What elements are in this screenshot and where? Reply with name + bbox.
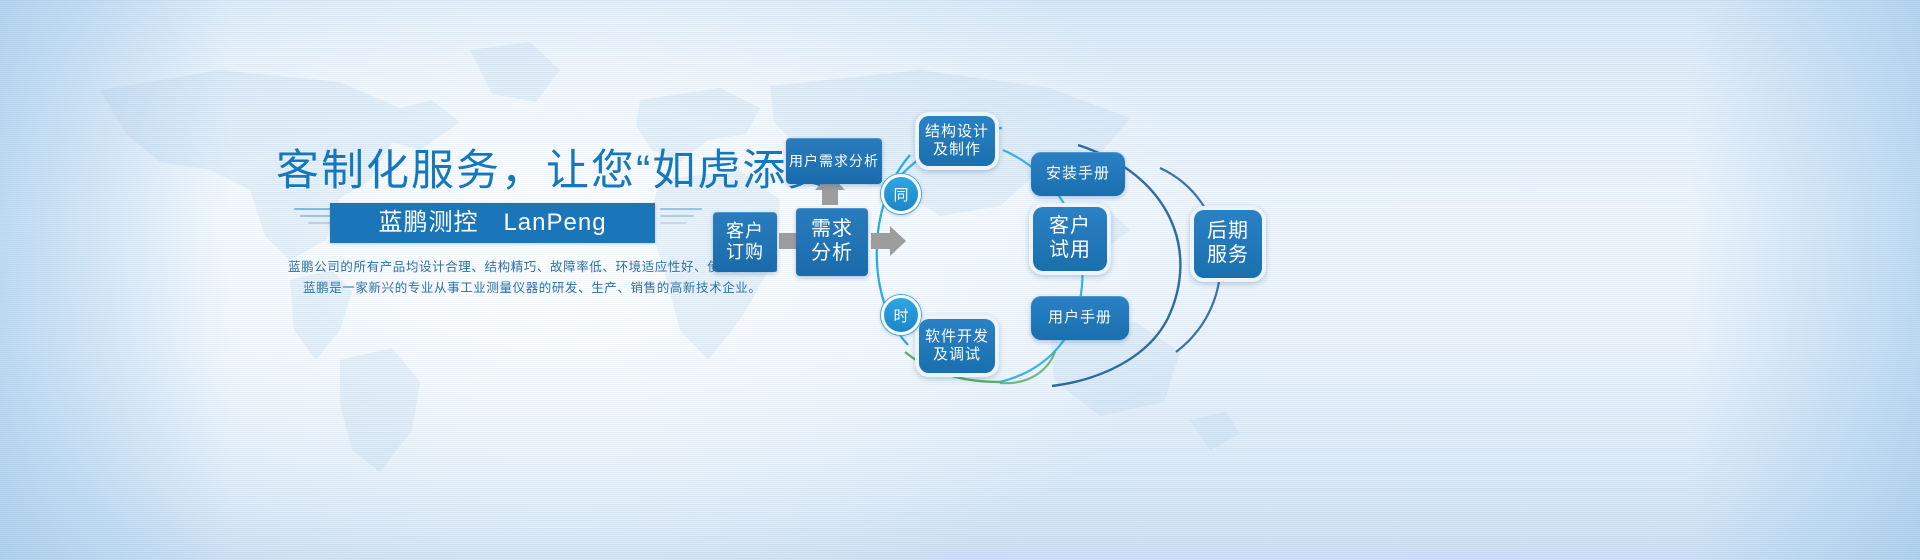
flow-node-label-line2: 服务 [1207, 244, 1249, 268]
flow-node-user-requirement-analysis[interactable]: 用户需求分析 [786, 138, 882, 184]
flow-node-installation-manual[interactable]: 安装手册 [1031, 152, 1125, 196]
process-flow-diagram: 用户需求分析 客户 订购 需求 分析 结构设计 及制作 软件开发 及调试 安装手… [0, 0, 1920, 560]
banner-stage: 客制化服务，让您“如虎添翼” 蓝鹏测控 LanPeng 蓝鹏公司的所有产品均设计… [0, 0, 1920, 560]
flow-badge-label: 时 [893, 305, 908, 326]
flow-badge-tong[interactable]: 同 [881, 174, 921, 214]
flow-node-label-line1: 客户 [726, 221, 764, 242]
flow-connector-arcs [0, 0, 1920, 560]
flow-node-label-line1: 软件开发 [925, 328, 989, 346]
flow-node-label-line1: 需求 [811, 218, 853, 242]
flow-node-after-sales-service[interactable]: 后期 服务 [1190, 206, 1266, 282]
flow-node-structure-design[interactable]: 结构设计 及制作 [915, 112, 999, 170]
flow-node-label-line1: 后期 [1207, 220, 1249, 244]
flow-node-requirement-analysis[interactable]: 需求 分析 [796, 208, 868, 276]
flow-node-customer-order[interactable]: 客户 订购 [713, 212, 777, 272]
flow-node-label: 用户手册 [1048, 309, 1112, 327]
flow-node-label-line2: 试用 [1049, 239, 1091, 263]
flow-node-label-line1: 客户 [1049, 215, 1091, 239]
flow-node-label-line2: 分析 [811, 242, 853, 266]
flow-node-user-manual[interactable]: 用户手册 [1031, 296, 1129, 340]
flow-badge-label: 同 [893, 184, 908, 205]
flow-node-label-line2: 及制作 [933, 141, 981, 159]
flow-node-customer-trial[interactable]: 客户 试用 [1029, 203, 1111, 275]
flow-badge-shi[interactable]: 时 [881, 295, 921, 335]
flow-node-label: 用户需求分析 [789, 153, 879, 170]
flow-node-label-line2: 订购 [726, 242, 764, 263]
flow-node-label-line2: 及调试 [933, 346, 981, 364]
flow-node-label: 安装手册 [1046, 165, 1110, 183]
flow-node-software-development[interactable]: 软件开发 及调试 [915, 315, 999, 377]
flow-node-label-line1: 结构设计 [925, 123, 989, 141]
